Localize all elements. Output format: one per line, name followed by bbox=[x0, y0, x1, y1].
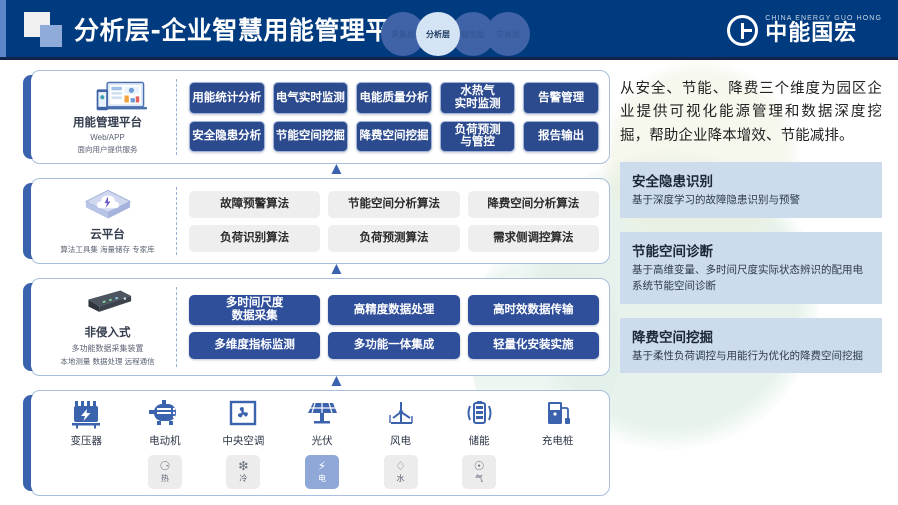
battery-storage-icon bbox=[462, 399, 496, 429]
tag-item[interactable]: 多维度指标监测 bbox=[189, 332, 320, 359]
highlight-card-desc: 基于深度学习的故障隐患识别与预警 bbox=[632, 193, 872, 209]
panel-subtitle-2: 面向用户提供服务 bbox=[78, 144, 138, 155]
flow-arrow-up: ▲ bbox=[328, 373, 344, 389]
transformer-icon bbox=[69, 399, 103, 429]
tag-item[interactable]: 故障预警算法 bbox=[189, 191, 320, 218]
tag-item[interactable]: 多时间尺度 数据采集 bbox=[189, 295, 320, 324]
device-label: 充电桩 bbox=[542, 433, 574, 448]
panel-subtitle-2: 本地测量 数据处理 远程通信 bbox=[60, 356, 154, 367]
highlight-card-title: 安全隐患识别 bbox=[632, 170, 872, 190]
layer-circle-label: 服务层 bbox=[461, 29, 485, 40]
panel-platform: 用能管理平台 Web/APP 面向用户提供服务 用能统计分析 电气实时监测 电能… bbox=[30, 70, 610, 164]
highlight-card-cost-reduction: 降费空间挖掘 基于柔性负荷调控与用能行为优化的降费空间挖掘 bbox=[620, 318, 882, 374]
wind-turbine-icon bbox=[384, 399, 418, 429]
device-charging-pile[interactable]: 充电桩 bbox=[521, 399, 595, 489]
layer-circle-label: 分析层 bbox=[426, 29, 450, 40]
tag-item[interactable]: 高精度数据处理 bbox=[328, 295, 459, 324]
flow-arrow-up: ▲ bbox=[328, 261, 344, 277]
energy-chip-heat[interactable]: ⚆ 热 bbox=[148, 455, 182, 489]
cloud-platform-cube-icon bbox=[80, 187, 136, 221]
highlight-card-safety: 安全隐患识别 基于深度学习的故障隐患识别与预警 bbox=[620, 162, 882, 218]
lightning-icon: ⚡ bbox=[318, 460, 326, 472]
panel-identity-platform: 用能管理平台 Web/APP 面向用户提供服务 bbox=[45, 79, 177, 155]
tag-item[interactable]: 多功能一体集成 bbox=[328, 332, 459, 359]
snowflake-icon: ❇ bbox=[238, 460, 248, 472]
tag-item[interactable]: 轻量化安装实施 bbox=[468, 332, 599, 359]
device-central-ac[interactable]: 中央空调 ❇ 冷 bbox=[206, 399, 280, 489]
device-wind[interactable]: 风电 ♢ 水 bbox=[364, 399, 438, 489]
tag-item[interactable]: 负荷预测算法 bbox=[328, 225, 459, 252]
tag-item[interactable]: 节能空间分析算法 bbox=[328, 191, 459, 218]
panel-tags-collector: 多时间尺度 数据采集 高精度数据处理 高时效数据传输 多维度指标监测 多功能一体… bbox=[177, 287, 599, 367]
device-label: 风电 bbox=[390, 433, 411, 448]
laptop-dashboard-icon bbox=[91, 79, 125, 109]
circle-g-logo-icon bbox=[727, 15, 758, 46]
panel-identity-collector: 非侵入式 多功能数据采集装置 本地测量 数据处理 远程通信 bbox=[45, 287, 177, 367]
central-ac-icon bbox=[226, 399, 260, 429]
tag-row: 故障预警算法 节能空间分析算法 降费空间分析算法 bbox=[189, 191, 599, 218]
energy-chip-placeholder bbox=[69, 455, 103, 489]
tag-item[interactable]: 用能统计分析 bbox=[189, 82, 265, 113]
tag-row: 多时间尺度 数据采集 高精度数据处理 高时效数据传输 bbox=[189, 295, 599, 324]
solar-panel-icon bbox=[305, 399, 339, 429]
energy-chip-water[interactable]: ♢ 水 bbox=[384, 455, 418, 489]
energy-chip-label: 水 bbox=[397, 473, 405, 484]
tag-item[interactable]: 负荷识别算法 bbox=[189, 225, 320, 252]
page-title: 分析层-企业智慧用能管理平台 bbox=[74, 11, 416, 47]
device-storage[interactable]: 储能 ☉ 气 bbox=[442, 399, 516, 489]
panel-cloud: 云平台 算法工具集 海量储存 专家库 故障预警算法 节能空间分析算法 降费空间分… bbox=[30, 178, 610, 264]
panel-title: 非侵入式 bbox=[85, 324, 131, 340]
charging-pile-icon bbox=[541, 399, 575, 429]
panel-tags-platform: 用能统计分析 电气实时监测 电能质量分析 水热气 实时监测 告警管理 安全隐患分… bbox=[177, 79, 599, 155]
highlight-card-title: 降费空间挖掘 bbox=[632, 326, 872, 346]
energy-chip-gas[interactable]: ☉ 气 bbox=[462, 455, 496, 489]
panel-identity-cloud: 云平台 算法工具集 海量储存 专家库 bbox=[45, 187, 177, 255]
motor-icon bbox=[148, 399, 182, 429]
panel-subtitle-1: 算法工具集 海量储存 专家库 bbox=[60, 244, 154, 255]
gas-flame-icon: ☉ bbox=[474, 460, 485, 472]
page-header: 分析层-企业智慧用能管理平台 采集层 服务层 交易层 分析层 CHINA ENE… bbox=[0, 0, 898, 60]
tag-item[interactable]: 报告输出 bbox=[523, 121, 599, 152]
panel-tags-cloud: 故障预警算法 节能空间分析算法 降费空间分析算法 负荷识别算法 负荷预测算法 需… bbox=[177, 187, 599, 255]
intro-paragraph: 从安全、节能、降费三个维度为园区企业提供可视化能源管理和数据深度挖掘，帮助企业降… bbox=[620, 78, 882, 148]
architecture-stack: 用能管理平台 Web/APP 面向用户提供服务 用能统计分析 电气实时监测 电能… bbox=[30, 70, 610, 505]
tag-item[interactable]: 需求侧调控算法 bbox=[468, 225, 599, 252]
energy-chip-label: 冷 bbox=[239, 473, 247, 484]
device-label: 储能 bbox=[469, 433, 490, 448]
tag-row: 用能统计分析 电气实时监测 电能质量分析 水热气 实时监测 告警管理 bbox=[189, 82, 599, 113]
panel-collector: 非侵入式 多功能数据采集装置 本地测量 数据处理 远程通信 多时间尺度 数据采集… bbox=[30, 278, 610, 376]
tag-item[interactable]: 降费空间挖掘 bbox=[356, 121, 432, 152]
device-motor[interactable]: 电动机 ⚆ 热 bbox=[128, 399, 202, 489]
brand-logo: CHINA ENERGY GUO HONG 中能国宏 bbox=[727, 12, 882, 48]
layer-circle-label: 采集层 bbox=[391, 29, 415, 40]
highlight-card-title: 节能空间诊断 bbox=[632, 240, 872, 260]
energy-chip-electric[interactable]: ⚡ 电 bbox=[305, 455, 339, 489]
device-label: 变压器 bbox=[71, 433, 103, 448]
panel-devices: 变压器 bbox=[30, 390, 610, 496]
tag-item[interactable]: 高时效数据传输 bbox=[468, 295, 599, 324]
layer-circle-trade[interactable]: 交易层 bbox=[486, 12, 530, 56]
highlight-card-desc: 基于柔性负荷调控与用能行为优化的降费空间挖掘 bbox=[632, 349, 872, 365]
flow-arrow-up: ▲ bbox=[328, 161, 344, 177]
logo-mark-icon bbox=[24, 12, 68, 48]
device-grid: 变压器 bbox=[47, 399, 597, 489]
energy-chip-label: 热 bbox=[161, 473, 169, 484]
tag-item[interactable]: 负荷预测 与管控 bbox=[440, 121, 516, 152]
brand-chinese-name: 中能国宏 bbox=[765, 23, 882, 45]
tag-row: 负荷识别算法 负荷预测算法 需求侧调控算法 bbox=[189, 225, 599, 252]
energy-chip-label: 气 bbox=[475, 473, 483, 484]
highlight-card-energy-saving: 节能空间诊断 基于高维变量、多时间尺度实际状态辨识的配用电系统节能空间诊断 bbox=[620, 232, 882, 304]
device-label: 中央空调 bbox=[222, 433, 264, 448]
tag-item[interactable]: 节能空间挖掘 bbox=[273, 121, 349, 152]
data-collector-box-icon bbox=[80, 287, 136, 319]
panel-title: 云平台 bbox=[90, 226, 125, 242]
layer-circle-analysis[interactable]: 分析层 bbox=[416, 12, 460, 56]
device-label: 光伏 bbox=[311, 433, 332, 448]
tag-item[interactable]: 告警管理 bbox=[523, 82, 599, 113]
device-label: 电动机 bbox=[149, 433, 181, 448]
water-drop-icon: ♢ bbox=[395, 460, 406, 472]
slide-canvas: 分析层-企业智慧用能管理平台 采集层 服务层 交易层 分析层 CHINA ENE… bbox=[0, 0, 898, 505]
energy-chip-label: 电 bbox=[318, 473, 326, 484]
tag-item[interactable]: 电能质量分析 bbox=[356, 82, 432, 113]
tag-row: 多维度指标监测 多功能一体集成 轻量化安装实施 bbox=[189, 332, 599, 359]
tag-item[interactable]: 电气实时监测 bbox=[273, 82, 349, 113]
tag-row: 安全隐患分析 节能空间挖掘 降费空间挖掘 负荷预测 与管控 报告输出 bbox=[189, 121, 599, 152]
device-transformer[interactable]: 变压器 bbox=[49, 399, 123, 489]
panel-subtitle-1: 多功能数据采集装置 bbox=[72, 343, 144, 354]
heat-icon: ⚆ bbox=[159, 460, 170, 472]
panel-subtitle-1: Web/APP bbox=[90, 133, 125, 142]
tag-item[interactable]: 水热气 实时监测 bbox=[440, 82, 516, 113]
right-column: 从安全、节能、降费三个维度为园区企业提供可视化能源管理和数据深度挖掘，帮助企业降… bbox=[620, 78, 882, 373]
highlight-card-desc: 基于高维变量、多时间尺度实际状态辨识的配用电系统节能空间诊断 bbox=[632, 263, 872, 295]
device-solar[interactable]: 光伏 ⚡ 电 bbox=[285, 399, 359, 489]
tag-item[interactable]: 降费空间分析算法 bbox=[468, 191, 599, 218]
tag-item[interactable]: 安全隐患分析 bbox=[189, 121, 265, 152]
energy-chip-placeholder bbox=[541, 455, 575, 489]
energy-chip-cooling[interactable]: ❇ 冷 bbox=[226, 455, 260, 489]
layer-circle-label: 交易层 bbox=[496, 29, 520, 40]
